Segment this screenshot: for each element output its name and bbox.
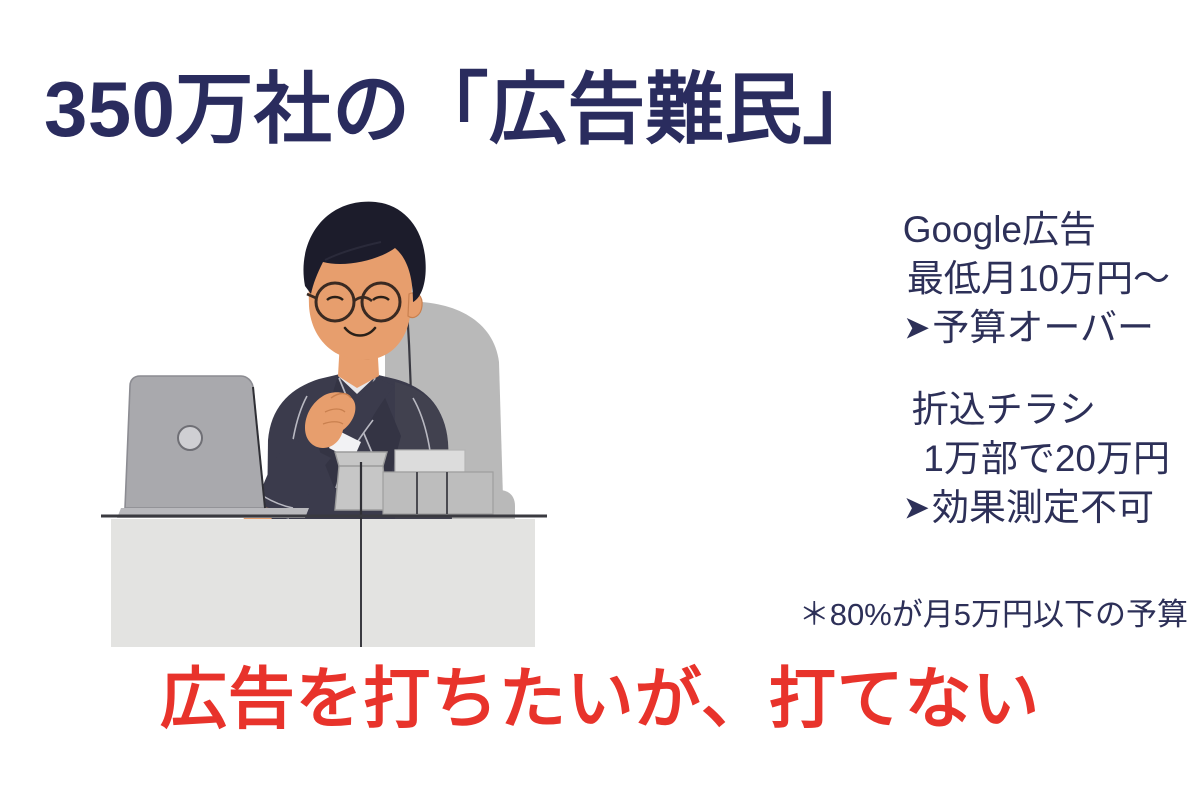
fact-block-flyer: 折込チラシ 1万部で20万円 ➤効果測定不可 xyxy=(700,386,1180,532)
fact-google-ads-cost: 最低月10万円〜 xyxy=(700,255,1180,304)
poster-canvas: 350万社の「広告難民」 xyxy=(0,0,1200,800)
fact-flyer-issue: ➤効果測定不可 xyxy=(700,484,1180,533)
fact-google-ads-issue-label: 予算オーバー xyxy=(932,307,1154,348)
facts-column: Google広告 最低月10万円〜 ➤予算オーバー 折込チラシ 1万部で20万円… xyxy=(700,206,1180,567)
arrow-right-icon: ➤ xyxy=(903,487,930,530)
desk-icon xyxy=(101,516,547,647)
fact-flyer-issue-label: 効果測定不可 xyxy=(932,487,1154,528)
fact-block-google-ads: Google広告 最低月10万円〜 ➤予算オーバー xyxy=(700,206,1180,352)
fact-flyer-cost: 1万部で20万円 xyxy=(700,435,1180,484)
fact-google-ads-title: Google広告 xyxy=(700,206,1180,255)
fact-google-ads-issue: ➤予算オーバー xyxy=(700,304,1180,353)
budget-footnote: ＊80%が月5万円以下の予算 xyxy=(700,596,1188,633)
page-title: 350万社の「広告難民」 xyxy=(44,70,1044,148)
arrow-right-icon: ➤ xyxy=(903,306,930,349)
businessman-desk-illustration xyxy=(95,190,555,660)
fact-flyer-title: 折込チラシ xyxy=(700,386,1180,435)
tagline-text: 広告を打ちたいが、打てない xyxy=(0,662,1200,737)
